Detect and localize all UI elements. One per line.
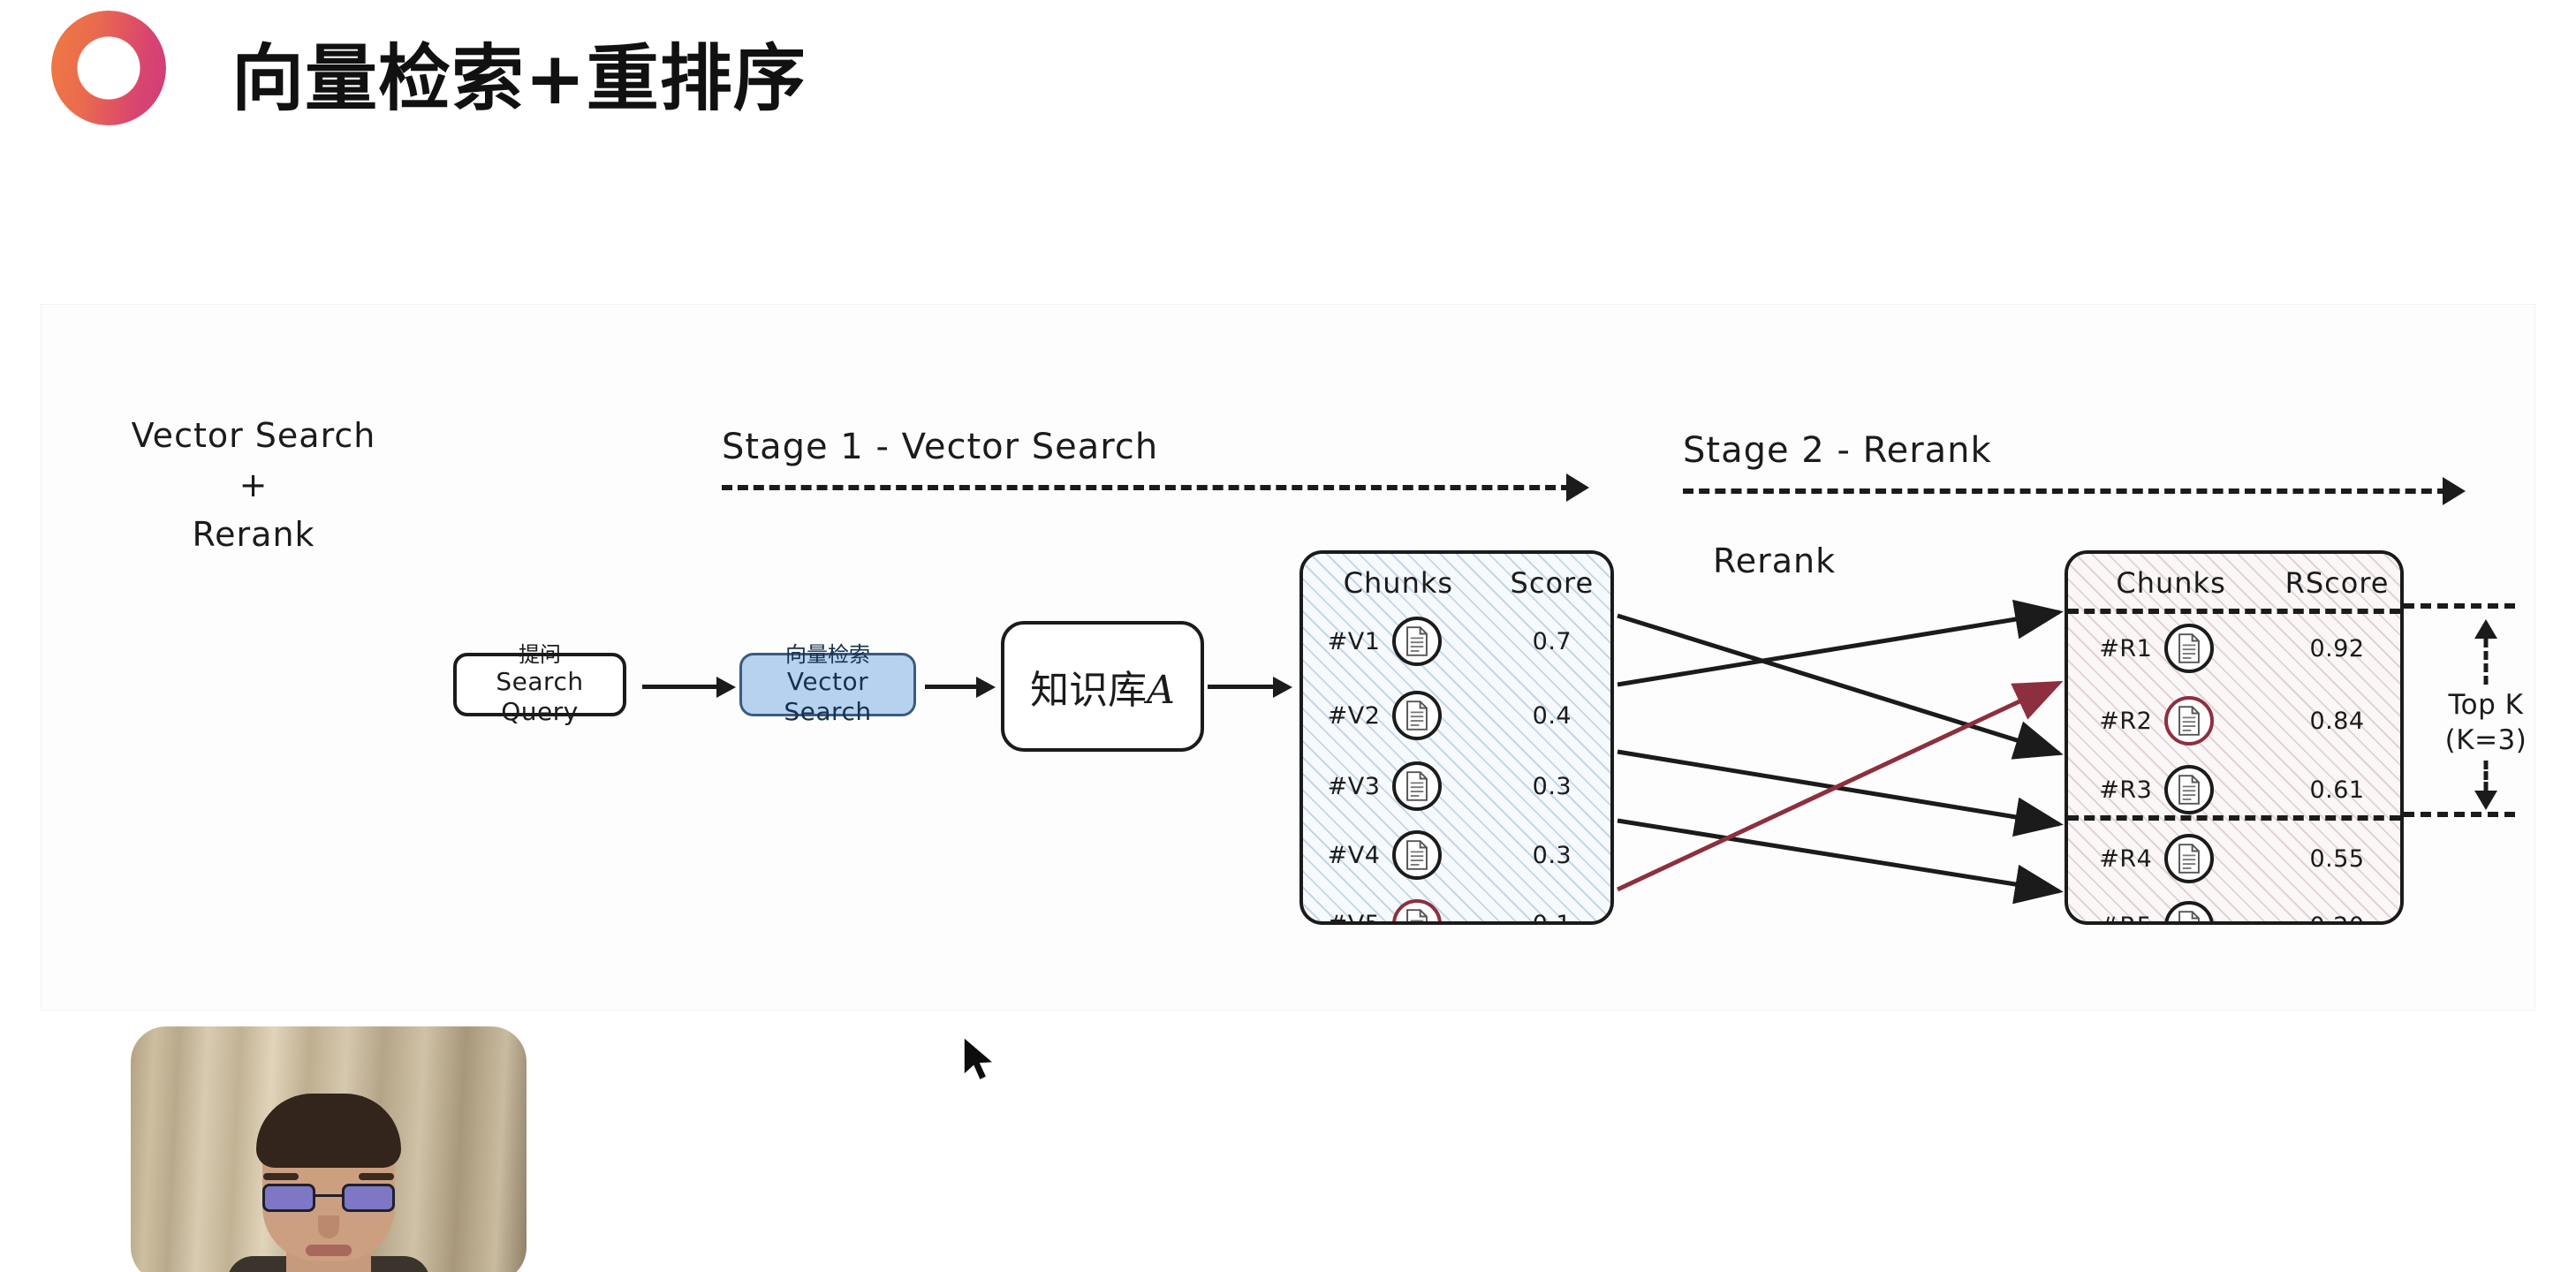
document-icon <box>1392 617 1442 666</box>
arrow-query-to-vsearch <box>642 679 736 695</box>
stage-2-label: Stage 2 - Rerank <box>1683 430 2504 471</box>
table-row[interactable]: #V5 0.1 <box>1303 891 1610 925</box>
document-icon <box>2164 834 2214 883</box>
chunk-score: 0.84 <box>2274 708 2400 735</box>
col-header-score: Score <box>1494 566 1610 600</box>
topk-top-extension <box>2404 603 2515 609</box>
table-row[interactable]: #R4 0.55 <box>2068 826 2400 891</box>
knowledge-base-box[interactable]: 知识库A <box>1001 621 1204 752</box>
vector-results-header: Chunks Score <box>1303 566 1610 600</box>
rerank-label: Rerank <box>1713 541 1836 580</box>
search-query-en-label: Search Query <box>457 667 623 726</box>
eyeglasses-icon <box>262 1184 395 1214</box>
document-icon-highlighted <box>2164 696 2214 746</box>
slide-header: 向量检索+重排序 <box>0 0 2576 132</box>
document-icon <box>2164 624 2214 673</box>
chunk-tag: #V1 <box>1303 628 1389 655</box>
topk-lower-divider <box>2068 815 2400 821</box>
brand-logo-icon <box>51 11 166 125</box>
chunk-score: 0.4 <box>1494 702 1610 730</box>
stage-1-header: Stage 1 - Vector Search <box>722 427 1605 497</box>
document-icon <box>2164 901 2214 925</box>
vector-search-cn-label: 向量检索 <box>785 643 870 668</box>
arrow-vsearch-to-kb <box>925 679 996 695</box>
presenter-avatar <box>237 1083 420 1272</box>
slide-screen: 向量检索+重排序 Vector Search + Rerank Stage 1 … <box>0 0 2576 1272</box>
kb-label: 知识库 <box>1030 668 1147 713</box>
document-icon <box>1392 691 1442 740</box>
topk-down-arrowhead <box>2474 791 2497 810</box>
chunk-tag: #R4 <box>2068 845 2161 873</box>
document-icon <box>1392 830 1442 880</box>
search-query-box[interactable]: 提问 Search Query <box>453 653 626 716</box>
vector-search-en-label: Vector Search <box>742 667 913 726</box>
chunk-tag: #R1 <box>2068 635 2161 662</box>
chunk-tag: #R2 <box>2068 708 2161 735</box>
table-row[interactable]: #R3 0.61 <box>2068 757 2400 822</box>
topk-bottom-extension <box>2404 812 2515 817</box>
chunk-tag: #V3 <box>1303 773 1389 800</box>
topk-label-line-1: Top K <box>2404 688 2568 723</box>
table-row[interactable]: #R2 0.84 <box>2068 688 2400 753</box>
topk-bracket: Top K (K=3) <box>2404 596 2568 817</box>
chunk-tag: #V2 <box>1303 702 1389 730</box>
caption-line-3: Rerank <box>95 510 413 559</box>
link-v3-r4 <box>1618 752 2059 824</box>
col-header-chunks: Chunks <box>2068 566 2274 600</box>
chunk-score: 0.92 <box>2274 635 2400 662</box>
rerank-results-header: Chunks RScore <box>2068 566 2400 600</box>
chunk-score: 0.3 <box>1494 842 1610 869</box>
caption-line-1: Vector Search <box>95 411 413 460</box>
chunk-score: 0.61 <box>2274 776 2400 804</box>
chunk-score: 0.7 <box>1494 628 1610 655</box>
arrow-kb-to-results <box>1208 679 1292 695</box>
chunk-tag: #V5 <box>1303 911 1389 926</box>
page-title: 向量检索+重排序 <box>231 19 807 125</box>
vector-search-box[interactable]: 向量检索 Vector Search <box>739 653 916 716</box>
chunk-score: 0.1 <box>1494 911 1610 926</box>
table-row[interactable]: #R1 0.92 <box>2068 616 2400 681</box>
stage-2-arrow <box>1683 481 2504 501</box>
document-icon <box>1392 761 1442 811</box>
vector-results-panel: Chunks Score #V1 0.7 #V2 0.4 #V3 <box>1299 550 1614 925</box>
topk-upper-divider <box>2068 609 2400 614</box>
table-row[interactable]: #V1 0.7 <box>1303 609 1610 674</box>
link-v4-r5 <box>1618 821 2059 891</box>
diagram-caption: Vector Search + Rerank <box>95 411 413 560</box>
mouse-cursor-icon <box>960 1034 1001 1086</box>
chunk-score: 0.20 <box>2274 912 2400 926</box>
link-v1-r3 <box>1618 616 2059 753</box>
kb-suffix: A <box>1147 668 1175 713</box>
chunk-score: 0.55 <box>2274 845 2400 873</box>
topk-label-line-2: (K=3) <box>2404 723 2568 759</box>
stage-1-label: Stage 1 - Vector Search <box>722 427 1605 467</box>
link-v5-r2 <box>1618 683 2059 890</box>
table-row[interactable]: #V2 0.4 <box>1303 683 1610 748</box>
search-query-cn-label: 提问 <box>519 643 561 668</box>
topk-up-arrowhead <box>2474 619 2497 639</box>
rerank-results-panel: Chunks RScore #R1 0.92 #R2 0.84 #R3 <box>2065 550 2404 925</box>
stage-1-arrow <box>722 478 1605 497</box>
col-header-chunks: Chunks <box>1303 566 1494 600</box>
document-icon <box>2164 765 2214 814</box>
caption-line-2: + <box>95 460 413 510</box>
link-v2-r1 <box>1618 612 2059 685</box>
document-icon-highlighted <box>1392 899 1442 925</box>
chunk-tag: #R3 <box>2068 776 2161 804</box>
slide-canvas: Vector Search + Rerank Stage 1 - Vector … <box>41 304 2535 1011</box>
stage-2-header: Stage 2 - Rerank <box>1683 430 2504 501</box>
table-row[interactable]: #V4 0.3 <box>1303 822 1610 888</box>
table-row[interactable]: #V3 0.3 <box>1303 753 1610 819</box>
chunk-score: 0.3 <box>1494 773 1610 800</box>
table-row[interactable]: #R5 0.20 <box>2068 893 2400 925</box>
presenter-webcam-video[interactable] <box>131 1026 527 1272</box>
chunk-tag: #R5 <box>2068 912 2161 926</box>
chunk-tag: #V4 <box>1303 842 1389 869</box>
col-header-rscore: RScore <box>2274 566 2400 600</box>
